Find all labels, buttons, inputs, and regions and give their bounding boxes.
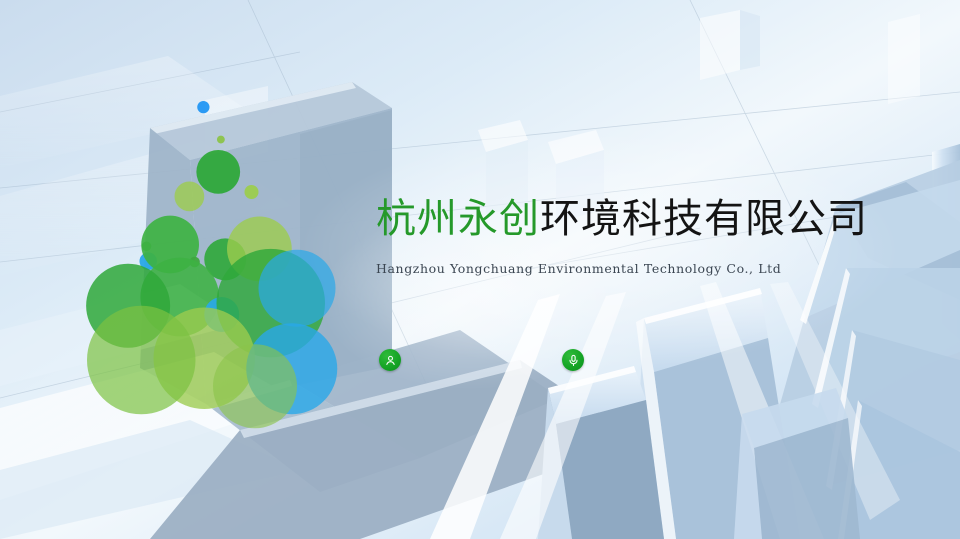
title-text-block: 杭州永创环境科技有限公司 Hangzhou Yongchuang Environ… — [376, 196, 916, 276]
narration-badge[interactable] — [562, 349, 584, 371]
logo-circle — [217, 136, 225, 144]
logo-circle — [259, 250, 336, 327]
logo-circle — [245, 185, 259, 199]
person-icon — [384, 354, 397, 367]
title-slide: 杭州永创环境科技有限公司 Hangzhou Yongchuang Environ… — [0, 0, 960, 539]
subtitle-english: Hangzhou Yongchuang Environmental Techno… — [376, 261, 916, 276]
company-logo — [70, 80, 370, 430]
logo-circle — [175, 182, 205, 212]
logo-circle — [213, 344, 297, 428]
author-badge[interactable] — [379, 349, 401, 371]
page-title: 杭州永创环境科技有限公司 — [376, 196, 916, 242]
logo-circle — [196, 150, 240, 194]
title-brand-part: 杭州永创 — [376, 196, 540, 242]
microphone-icon — [567, 354, 580, 367]
logo-circle — [197, 101, 209, 113]
logo-circle — [87, 306, 196, 415]
title-rest-part: 环境科技有限公司 — [540, 196, 868, 242]
